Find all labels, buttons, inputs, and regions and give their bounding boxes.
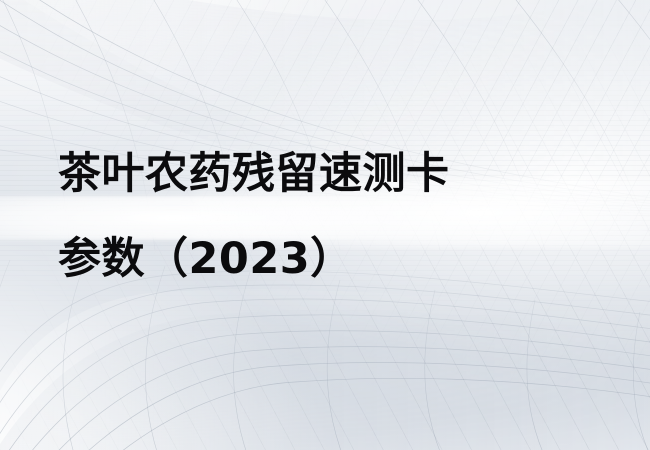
title-line-2: 参数（2023） [58,217,598,302]
title-banner: 茶叶农药残留速测卡 参数（2023） [0,0,650,450]
page-title: 茶叶农药残留速测卡 参数（2023） [58,132,598,302]
title-line-1: 茶叶农药残留速测卡 [58,132,598,217]
